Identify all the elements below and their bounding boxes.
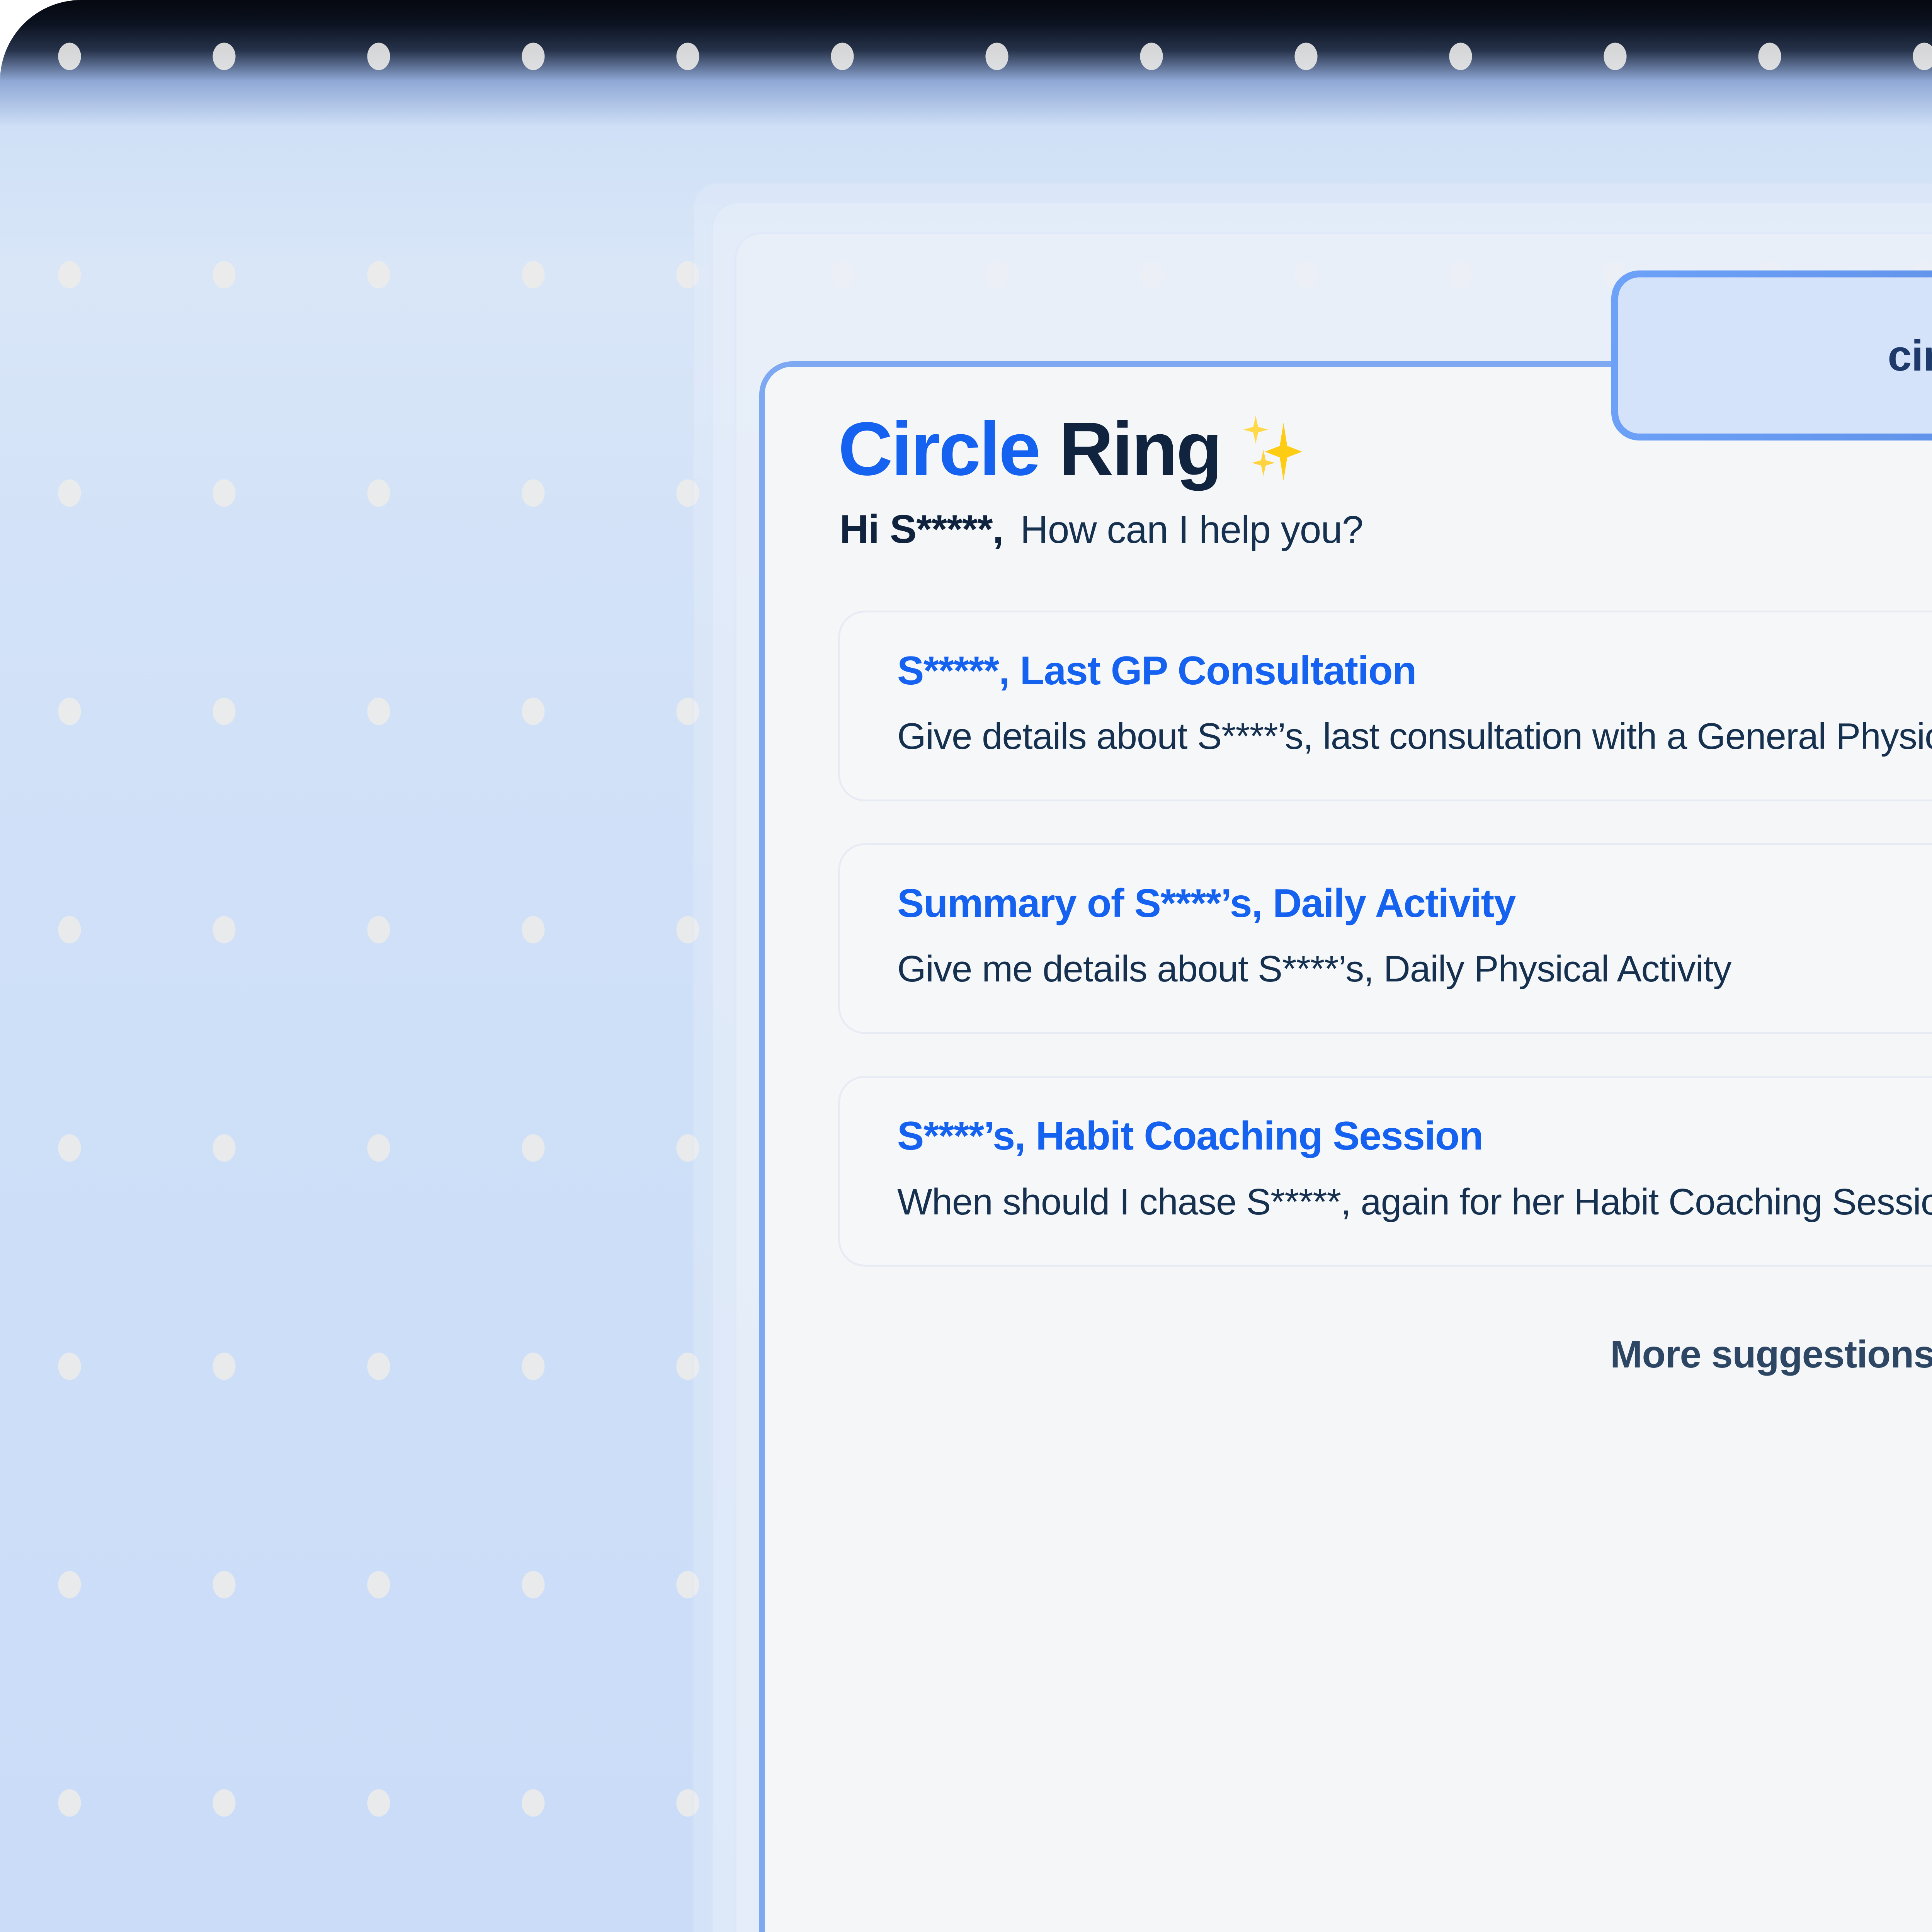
suggestion-card[interactable]: S*****, Last GP Consultation Give detail… bbox=[838, 611, 1932, 801]
greeting-question: How can I help you? bbox=[1020, 508, 1363, 552]
brand-word-secondary: Ring bbox=[1059, 406, 1221, 491]
circle-ring-assistant-panel: Circle Ring Hi S*****, How can I help yo… bbox=[759, 361, 1932, 1932]
suggestion-card[interactable]: Summary of S****’s, Daily Activity Give … bbox=[838, 843, 1932, 1034]
page-title: Circle Ring bbox=[838, 409, 1221, 489]
sparkles-icon bbox=[1241, 414, 1315, 484]
callout-circle-ring-within-chats: circle ring within chats bbox=[1611, 270, 1932, 440]
suggestion-body: When should I chase S*****, again for he… bbox=[897, 1177, 1932, 1228]
screenshot-stage: Circle Ring Hi S*****, How can I help yo… bbox=[0, 0, 1932, 1932]
brand-word-primary: Circle bbox=[838, 406, 1039, 491]
suggestion-body: Give details about S****’s, last consult… bbox=[897, 711, 1932, 762]
suggestion-title: Summary of S****’s, Daily Activity bbox=[897, 881, 1932, 927]
more-suggestions-row: More suggestions bbox=[838, 1332, 1932, 1377]
greeting-row: Hi S*****, How can I help you? bbox=[840, 507, 1932, 553]
callout-top-label: circle ring within chats bbox=[1888, 331, 1932, 381]
suggestion-list: S*****, Last GP Consultation Give detail… bbox=[838, 611, 1932, 1267]
more-suggestions-label: More suggestions bbox=[1610, 1332, 1932, 1377]
suggestion-title: S****’s, Habit Coaching Session bbox=[897, 1113, 1932, 1160]
suggestion-body: Give me details about S****’s, Daily Phy… bbox=[897, 944, 1932, 995]
suggestion-card[interactable]: S****’s, Habit Coaching Session When sho… bbox=[838, 1076, 1932, 1267]
suggestion-title: S*****, Last GP Consultation bbox=[897, 648, 1932, 694]
more-suggestions-button[interactable]: More suggestions bbox=[1610, 1332, 1932, 1377]
greeting-salutation: Hi S*****, bbox=[840, 507, 1003, 553]
